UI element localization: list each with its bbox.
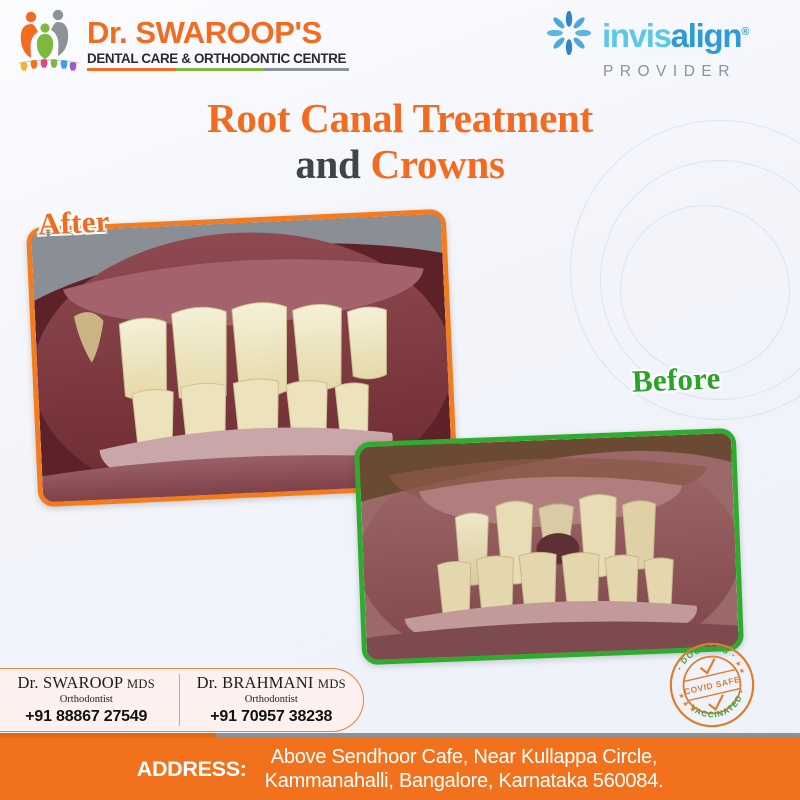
invisalign-provider-logo: invisalign® PROVIDER — [546, 10, 748, 81]
invisalign-provider-label: PROVIDER — [603, 63, 736, 81]
invisalign-word-part1: invis — [602, 17, 671, 54]
doctor-entry: Dr. SWAROOP MDS Orthodontist +91 88867 2… — [0, 674, 179, 725]
svg-text:★: ★ — [738, 666, 746, 675]
background-swirl — [620, 205, 790, 375]
title-and: and — [295, 141, 360, 187]
badge-center-text: COVID SAFE — [683, 674, 741, 697]
page-title: Root Canal Treatment and Crowns — [0, 96, 800, 188]
doctor-name: Dr. SWAROOP MDS — [0, 674, 179, 692]
doctor-role: Orthodontist — [180, 694, 364, 706]
title-crowns: Crowns — [371, 141, 505, 187]
before-label: Before — [631, 360, 721, 399]
address-label: ADDRESS: — [137, 757, 247, 782]
doctor-phone[interactable]: +91 70957 38238 — [180, 708, 364, 726]
before-photo-image — [359, 433, 739, 664]
doctor-role: Orthodontist — [0, 694, 179, 706]
registered-mark-icon: ® — [741, 26, 748, 38]
doctor-degree: MDS — [127, 677, 155, 691]
invisalign-flower-icon — [546, 10, 592, 61]
address-line-2: Kammanahalli, Bangalore, Karnataka 56008… — [265, 769, 664, 793]
before-photo — [354, 428, 744, 665]
after-label: After — [37, 203, 110, 242]
invisalign-word-part2: align — [671, 17, 742, 54]
address-line-1: Above Sendhoor Cafe, Near Kullappa Circl… — [265, 745, 664, 769]
doctor-degree: MDS — [318, 677, 346, 691]
badge-top-text: - DOCTORS - — [671, 637, 739, 673]
title-line-1: Root Canal Treatment — [0, 96, 800, 142]
brand-name: Dr. SWAROOP'S — [87, 17, 349, 48]
address-text: Above Sendhoor Cafe, Near Kullappa Circl… — [265, 745, 664, 794]
brand-text: Dr. SWAROOP'S DENTAL CARE & ORTHODONTIC … — [87, 8, 349, 71]
doctors-panel: Dr. SWAROOP MDS Orthodontist +91 88867 2… — [0, 668, 364, 732]
svg-text:★: ★ — [735, 659, 743, 668]
family-teeth-logo-icon — [18, 8, 80, 74]
doctor-phone[interactable]: +91 88867 27549 — [0, 708, 179, 726]
header: Dr. SWAROOP'S DENTAL CARE & ORTHODONTIC … — [0, 0, 800, 88]
address-bar: ADDRESS: Above Sendhoor Cafe, Near Kulla… — [0, 738, 800, 800]
doctor-name: Dr. BRAHMANI MDS — [180, 674, 364, 692]
brand-tagline: DENTAL CARE & ORTHODONTIC CENTRE — [87, 52, 349, 65]
covid-safe-badge: COVID SAFE - DOCTORS - - VACCINATED - ★ … — [653, 626, 771, 744]
doctor-entry: Dr. BRAHMANI MDS Orthodontist +91 70957 … — [179, 674, 364, 725]
brand-logo: Dr. SWAROOP'S DENTAL CARE & ORTHODONTIC … — [18, 8, 349, 74]
title-line-2: and Crowns — [0, 142, 800, 188]
brand-rule — [87, 68, 349, 71]
invisalign-wordmark: invisalign® — [602, 19, 748, 52]
